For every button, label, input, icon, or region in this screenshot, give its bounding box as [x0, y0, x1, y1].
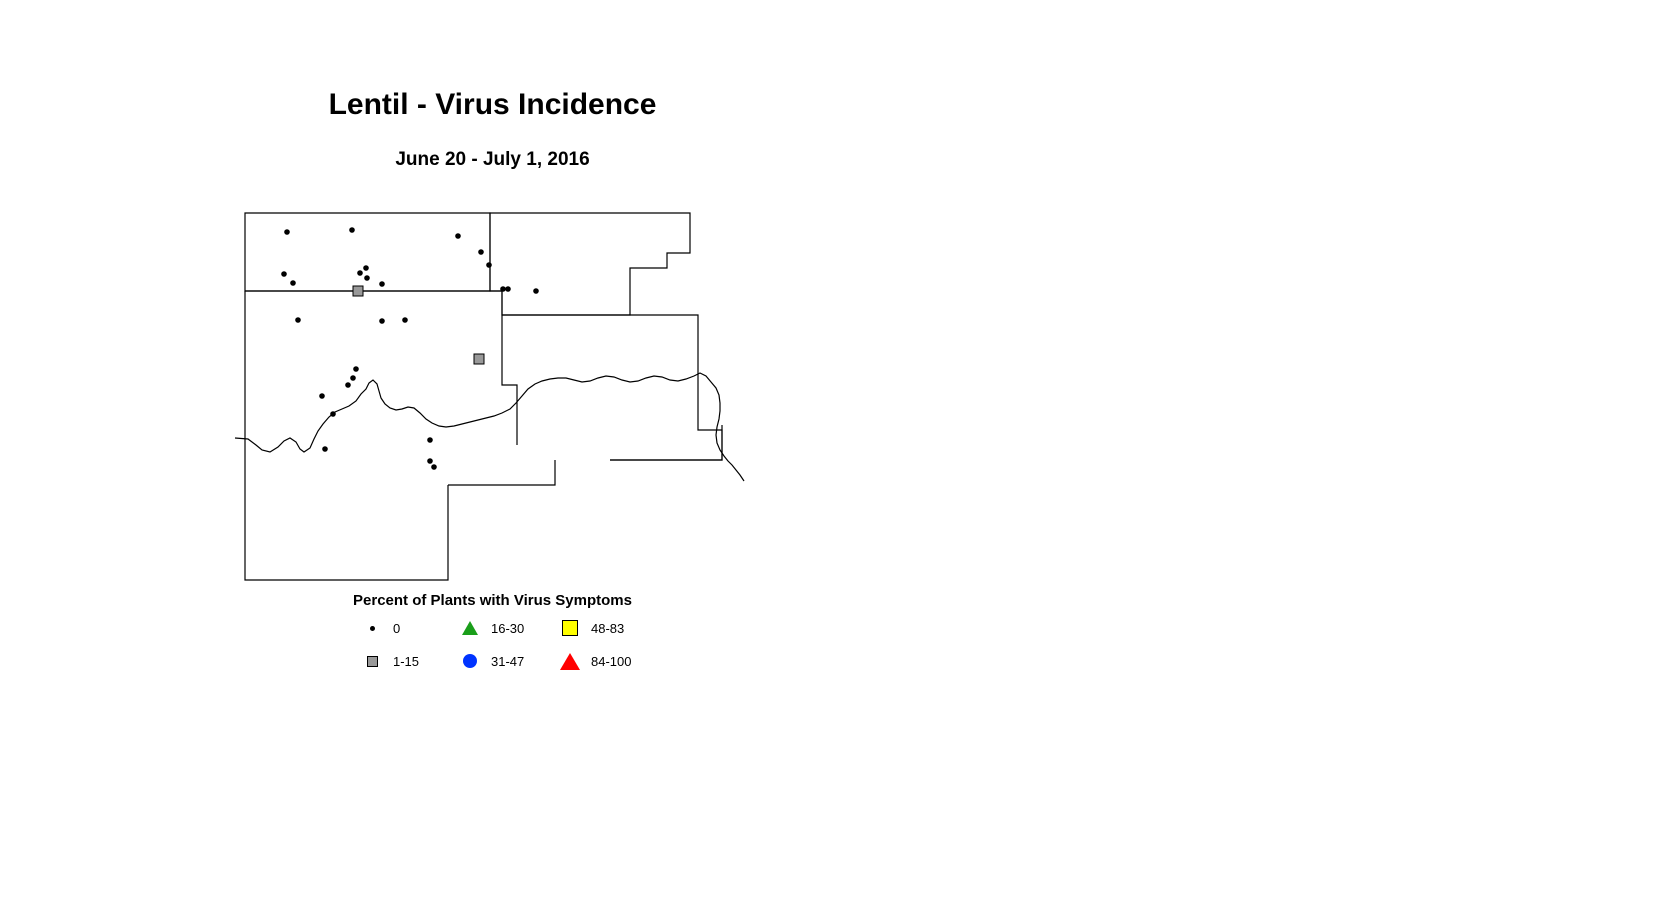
east-county-outline	[502, 315, 722, 460]
map-point	[330, 411, 336, 417]
map-point	[345, 382, 351, 388]
map-point	[500, 286, 506, 292]
legend-label-0: 0	[393, 622, 400, 635]
map-point	[284, 229, 290, 235]
page-subtitle: June 20 - July 1, 2016	[0, 149, 985, 171]
legend-item-1[interactable]: 1-15	[360, 651, 419, 671]
red-triangle-icon	[558, 652, 582, 670]
map-point	[533, 288, 539, 294]
south-central-edge	[448, 460, 555, 485]
map-point	[427, 458, 433, 464]
map-point	[478, 249, 484, 255]
gray-square-icon	[360, 652, 384, 670]
map-point	[350, 375, 356, 381]
map-canvas	[230, 195, 750, 595]
river-boundary	[235, 373, 744, 481]
map-point	[364, 275, 370, 281]
map-point	[363, 265, 369, 271]
green-triangle-icon	[458, 619, 482, 637]
small-black-dot-icon	[360, 619, 384, 637]
county-boundaries	[235, 213, 744, 580]
yellow-square-icon	[558, 619, 582, 637]
legend-label-3: 31-47	[491, 655, 524, 668]
map-point	[379, 281, 385, 287]
legend-label-5: 84-100	[591, 655, 631, 668]
map-point	[505, 286, 511, 292]
legend-item-0[interactable]: 0	[360, 618, 400, 638]
northeast-county-outline	[490, 213, 690, 315]
legend-item-2[interactable]: 16-30	[458, 618, 524, 638]
map-point	[319, 393, 325, 399]
map-point	[357, 270, 363, 276]
data-points	[281, 227, 539, 470]
legend-label-4: 48-83	[591, 622, 624, 635]
page-title: Lentil - Virus Incidence	[0, 88, 985, 122]
map-point	[353, 366, 359, 372]
map-point	[455, 233, 461, 239]
map-point	[290, 280, 296, 286]
map-point	[295, 317, 301, 323]
map-point	[379, 318, 385, 324]
map-point	[349, 227, 355, 233]
map-point	[322, 446, 328, 452]
legend-label-2: 16-30	[491, 622, 524, 635]
west-state-edge	[245, 291, 448, 580]
blue-circle-icon	[458, 652, 482, 670]
legend-title: Percent of Plants with Virus Symptoms	[0, 592, 985, 609]
map-point	[474, 354, 484, 364]
map-point	[431, 464, 437, 470]
legend-item-4[interactable]: 48-83	[558, 618, 624, 638]
map-point	[402, 317, 408, 323]
map-figure: Lentil - Virus Incidence June 20 - July …	[0, 0, 1673, 900]
map-point	[486, 262, 492, 268]
map-point	[427, 437, 433, 443]
legend-item-3[interactable]: 31-47	[458, 651, 524, 671]
map-point	[281, 271, 287, 277]
legend: 0 1-15 16-30 31-47 48-83 84-100	[360, 618, 680, 680]
legend-item-5[interactable]: 84-100	[558, 651, 631, 671]
central-vertical-line	[502, 291, 517, 410]
legend-label-1: 1-15	[393, 655, 419, 668]
map-point	[353, 286, 363, 296]
